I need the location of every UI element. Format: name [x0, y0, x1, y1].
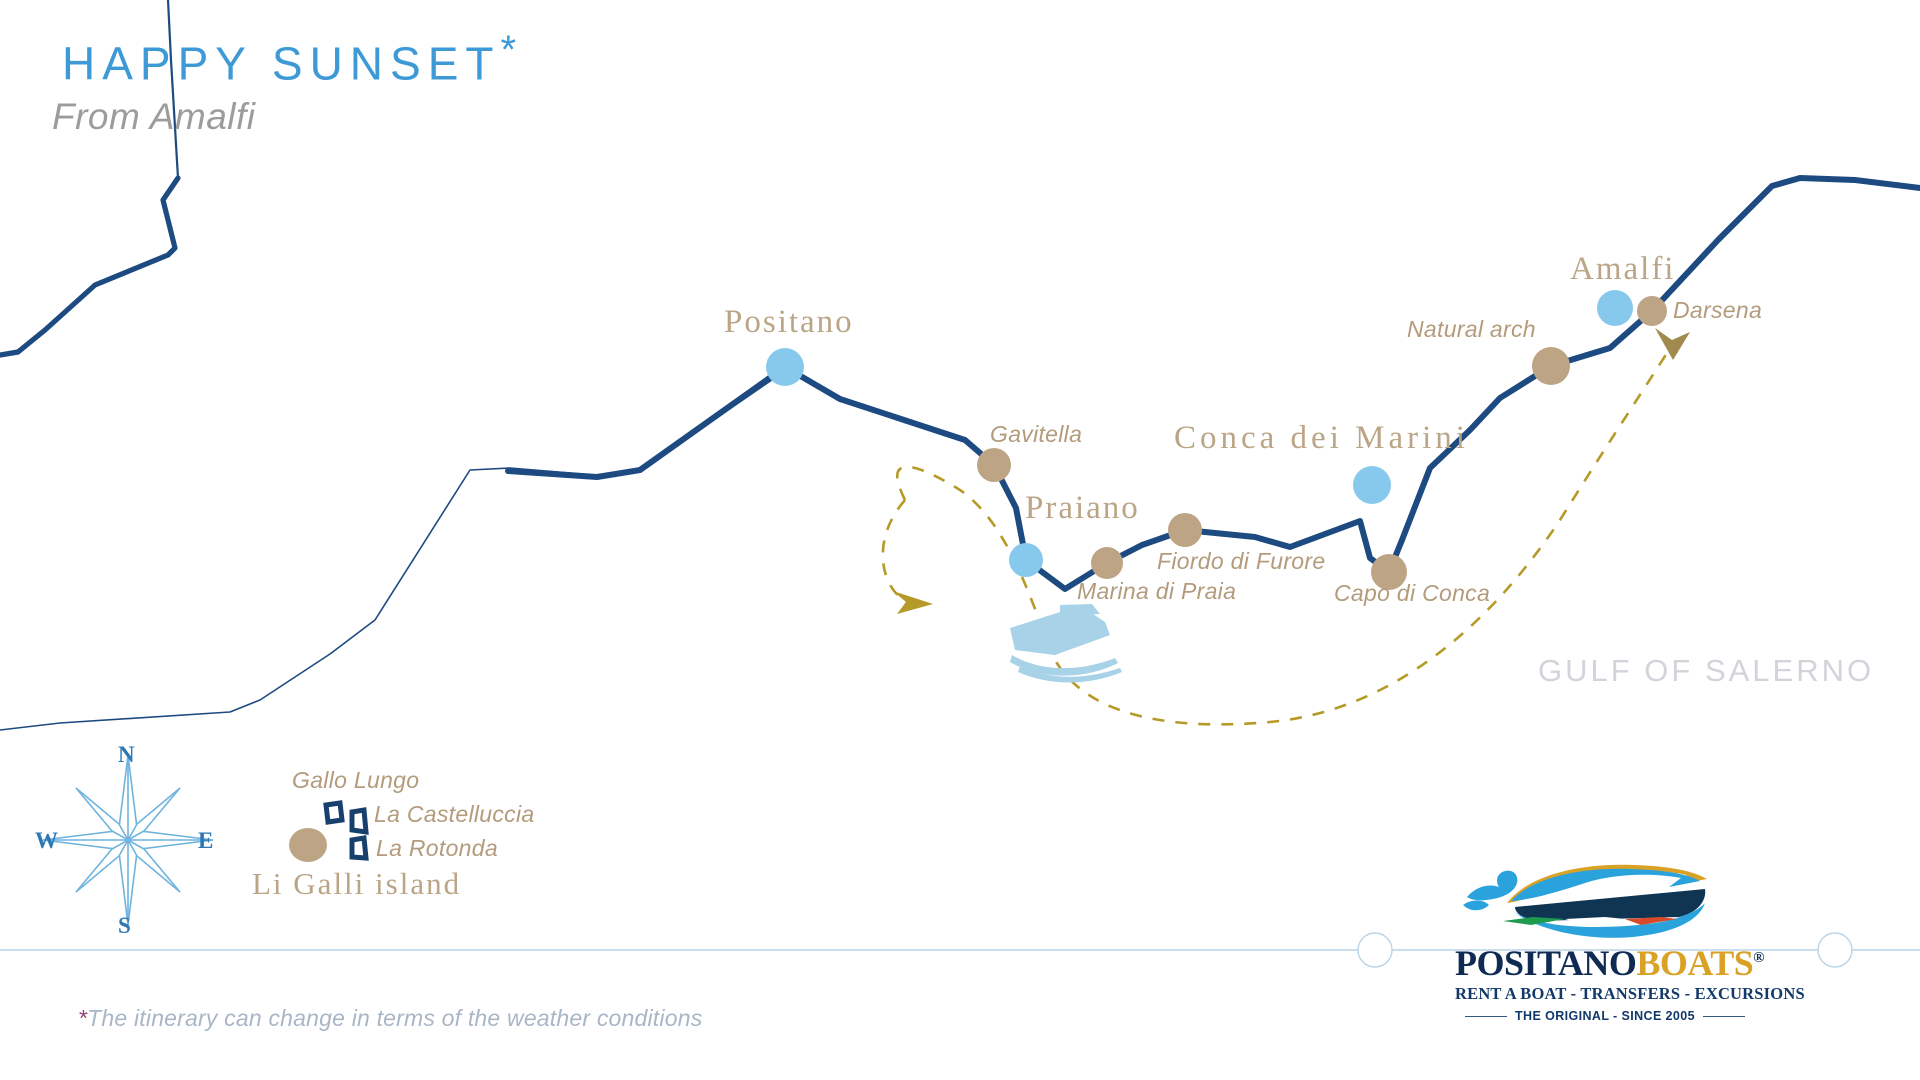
poi-marker-fiordo-di-furore[interactable]	[1168, 513, 1202, 547]
stop-marker-conca-dei-marini[interactable]	[1353, 466, 1391, 504]
map-label-amalfi: Amalfi	[1570, 251, 1675, 288]
poi-marker-gavitella[interactable]	[977, 448, 1011, 482]
page-title-asterisk: *	[500, 28, 523, 72]
page-title: HAPPY SUNSET*	[62, 28, 523, 90]
boat-logo-icon	[1455, 855, 1755, 940]
la-rotonda-islet	[352, 838, 366, 858]
compass-east-label: E	[198, 828, 213, 854]
map-label-gavitella: Gavitella	[990, 421, 1082, 448]
poi-marker-darsena[interactable]	[1637, 296, 1667, 326]
route-arrow-icon	[893, 591, 933, 614]
gallo-lungo-islet	[289, 828, 327, 862]
map-label-li-galli-island: Li Galli island	[252, 866, 461, 902]
compass-rose-icon	[43, 755, 213, 925]
map-label-gallo-lungo: Gallo Lungo	[292, 767, 419, 794]
map-label-marina-di-praia: Marina di Praia	[1077, 578, 1236, 605]
footnote-text: The itinerary can change in terms of the…	[87, 1005, 702, 1031]
map-label-darsena: Darsena	[1673, 297, 1762, 324]
stop-marker-amalfi[interactable]	[1597, 290, 1633, 326]
route-arrow-icon	[1655, 328, 1690, 360]
stop-marker-positano[interactable]	[766, 348, 804, 386]
la-castelluccia-islet	[326, 803, 342, 822]
map-label-fiordo-di-furore: Fiordo di Furore	[1157, 548, 1325, 575]
logo-wordmark: POSITANOBOATS®	[1455, 945, 1755, 981]
compass-north-label: N	[118, 742, 135, 768]
map-canvas: HAPPY SUNSET* From Amalfi Positano Praia…	[0, 0, 1920, 1080]
logo-rule-right	[1703, 1016, 1745, 1017]
li-galli-islets	[289, 803, 366, 862]
boat-icon	[1010, 604, 1122, 683]
footnote-asterisk: *	[78, 1005, 87, 1031]
brand-logo[interactable]: POSITANOBOATS® RENT A BOAT - TRANSFERS -…	[1455, 855, 1755, 1023]
la-rotonda-islet-upper	[352, 810, 366, 832]
page-subtitle: From Amalfi	[52, 96, 256, 138]
map-label-praiano: Praiano	[1025, 490, 1140, 527]
coastline-main	[508, 178, 1920, 589]
footnote: *The itinerary can change in terms of th…	[78, 1005, 702, 1032]
sea-label-gulf-of-salerno: GULF OF SALERNO	[1538, 653, 1874, 689]
map-label-la-rotonda: La Rotonda	[376, 835, 498, 862]
logo-brand-part2: BOATS	[1636, 943, 1753, 983]
logo-since-text: THE ORIGINAL - SINCE 2005	[1515, 1009, 1695, 1023]
compass-west-label: W	[35, 828, 58, 854]
stop-marker-praiano[interactable]	[1009, 543, 1043, 577]
logo-since-row: THE ORIGINAL - SINCE 2005	[1455, 1009, 1755, 1023]
registered-trademark-icon: ®	[1753, 950, 1764, 966]
map-label-la-castelluccia: La Castelluccia	[374, 801, 534, 828]
poi-marker-natural-arch[interactable]	[1532, 347, 1570, 385]
map-label-natural-arch: Natural arch	[1407, 316, 1536, 343]
page-title-text: HAPPY SUNSET	[62, 37, 500, 89]
logo-rule-left	[1465, 1016, 1507, 1017]
compass-south-label: S	[118, 913, 131, 939]
map-label-positano: Positano	[724, 304, 854, 341]
poi-marker-marina-di-praia[interactable]	[1091, 547, 1123, 579]
logo-tagline: RENT A BOAT - TRANSFERS - EXCURSIONS	[1455, 984, 1755, 1004]
map-label-capo-di-conca: Capo di Conca	[1334, 580, 1490, 607]
logo-brand-part1: POSITANO	[1455, 943, 1636, 983]
excursion-route-loop	[883, 500, 910, 604]
map-label-conca-dei-marini: Conca dei Marini	[1174, 420, 1469, 457]
